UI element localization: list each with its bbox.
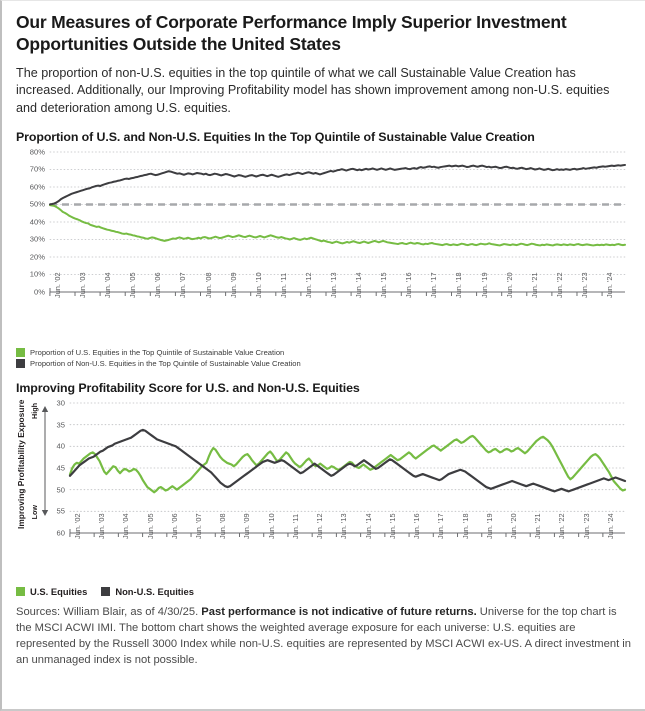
chart-bottom-plot-area: Improving Profitability Exposure High Lo… xyxy=(16,397,631,583)
x-tick-label: Jun. '24 xyxy=(605,272,614,298)
x-tick-label: Jun. '21 xyxy=(530,272,539,298)
x-tick-label: Jun. '12 xyxy=(304,272,313,298)
x-tick-label: Jun. '20 xyxy=(509,513,518,539)
x-tick-label: Jun. '18 xyxy=(461,513,470,539)
chart-bottom-legend: U.S. EquitiesNon-U.S. Equities xyxy=(16,587,631,596)
x-tick-label: Jun. '22 xyxy=(555,272,564,298)
legend-swatch-icon xyxy=(16,587,25,596)
chart-top-plot-area: 80%70%60%50%40%30%20%10%0% Jun. '02Jun. … xyxy=(16,146,631,344)
y-tick-label: 20% xyxy=(16,252,45,261)
x-tick-label: Jun. '20 xyxy=(505,272,514,298)
profitability-axis-arrow-icon xyxy=(40,405,50,517)
x-tick-label: Jun. '19 xyxy=(485,513,494,539)
page-title: Our Measures of Corporate Performance Im… xyxy=(16,11,631,56)
source-note-prefix: Sources: William Blair, as of 4/30/25. xyxy=(16,606,201,618)
legend-swatch-icon xyxy=(101,587,110,596)
x-tick-label: Jun. '06 xyxy=(153,272,162,298)
page-deck: The proportion of non-U.S. equities in t… xyxy=(16,65,631,117)
x-tick-label: Jun. '16 xyxy=(412,513,421,539)
legend-item-label: Proportion of Non-U.S. Equities in the T… xyxy=(30,360,301,368)
legend-item-label: U.S. Equities xyxy=(30,587,87,596)
legend-item[interactable]: U.S. Equities xyxy=(16,587,87,596)
chart-bottom: Improving Profitability Score for U.S. a… xyxy=(16,381,631,596)
y-tick-label: 30% xyxy=(16,235,45,244)
x-tick-label: Jun. '17 xyxy=(436,513,445,539)
x-tick-label: Jun. '07 xyxy=(194,513,203,539)
y-tick-label: 60 xyxy=(16,528,65,537)
legend-item-label: Proportion of U.S. Equities in the Top Q… xyxy=(30,349,284,357)
x-tick-label: Jun. '18 xyxy=(454,272,463,298)
chart-bottom-title: Improving Profitability Score for U.S. a… xyxy=(16,381,631,395)
y-tick-label: 40% xyxy=(16,217,45,226)
x-tick-label: Jun. '12 xyxy=(315,513,324,539)
x-tick-label: Jun. '09 xyxy=(242,513,251,539)
x-tick-label: Jun. '08 xyxy=(218,513,227,539)
x-tick-label: Jun. '23 xyxy=(582,513,591,539)
y-tick-label: 10% xyxy=(16,270,45,279)
x-tick-label: Jun. '13 xyxy=(329,272,338,298)
x-tick-label: Jun. '14 xyxy=(354,272,363,298)
x-tick-label: Jun. '22 xyxy=(557,513,566,539)
x-tick-label: Jun. '16 xyxy=(404,272,413,298)
source-note-disclaimer: Past performance is not indicative of fu… xyxy=(201,606,476,618)
x-tick-label: Jun. '04 xyxy=(121,513,130,539)
legend-swatch-icon xyxy=(16,359,25,368)
x-tick-label: Jun. '02 xyxy=(53,272,62,298)
source-note: Sources: William Blair, as of 4/30/25. P… xyxy=(16,605,631,669)
x-tick-label: Jun. '04 xyxy=(103,272,112,298)
x-tick-label: Jun. '11 xyxy=(291,514,300,539)
x-tick-label: Jun. '15 xyxy=(388,513,397,539)
x-tick-label: Jun. '17 xyxy=(429,272,438,298)
chart-top-legend: Proportion of U.S. Equities in the Top Q… xyxy=(16,348,631,368)
x-tick-label: Jun. '24 xyxy=(606,513,615,539)
x-tick-label: Jun. '08 xyxy=(204,272,213,298)
legend-item[interactable]: Proportion of U.S. Equities in the Top Q… xyxy=(16,348,631,357)
report-page: Our Measures of Corporate Performance Im… xyxy=(0,0,645,711)
legend-item-label: Non-U.S. Equities xyxy=(115,587,194,596)
x-tick-label: Jun. '10 xyxy=(267,513,276,539)
legend-item[interactable]: Non-U.S. Equities xyxy=(101,587,194,596)
x-tick-label: Jun. '06 xyxy=(170,513,179,539)
x-tick-label: Jun. '10 xyxy=(254,272,263,298)
x-tick-label: Jun. '09 xyxy=(229,272,238,298)
x-tick-label: Jun. '11 xyxy=(279,273,288,298)
y-tick-label: 70% xyxy=(16,165,45,174)
x-tick-label: Jun. '02 xyxy=(73,513,82,539)
chart-top-title: Proportion of U.S. and Non-U.S. Equities… xyxy=(16,130,631,144)
x-tick-label: Jun. '03 xyxy=(97,513,106,539)
y-tick-label: 50% xyxy=(16,200,45,209)
chart-top: Proportion of U.S. and Non-U.S. Equities… xyxy=(16,130,631,368)
x-tick-label: Jun. '14 xyxy=(364,513,373,539)
x-tick-label: Jun. '21 xyxy=(533,513,542,539)
x-tick-label: Jun. '05 xyxy=(128,272,137,298)
x-tick-label: Jun. '03 xyxy=(78,272,87,298)
x-tick-label: Jun. '05 xyxy=(146,513,155,539)
x-tick-label: Jun. '15 xyxy=(379,272,388,298)
x-tick-label: Jun. '07 xyxy=(178,272,187,298)
x-tick-label: Jun. '23 xyxy=(580,272,589,298)
y-tick-label: 60% xyxy=(16,182,45,191)
y-tick-label: 80% xyxy=(16,147,45,156)
legend-swatch-icon xyxy=(16,348,25,357)
y-tick-label: 0% xyxy=(16,287,45,296)
legend-item[interactable]: Proportion of Non-U.S. Equities in the T… xyxy=(16,359,631,368)
x-tick-label: Jun. '13 xyxy=(339,513,348,539)
x-tick-label: Jun. '19 xyxy=(480,272,489,298)
